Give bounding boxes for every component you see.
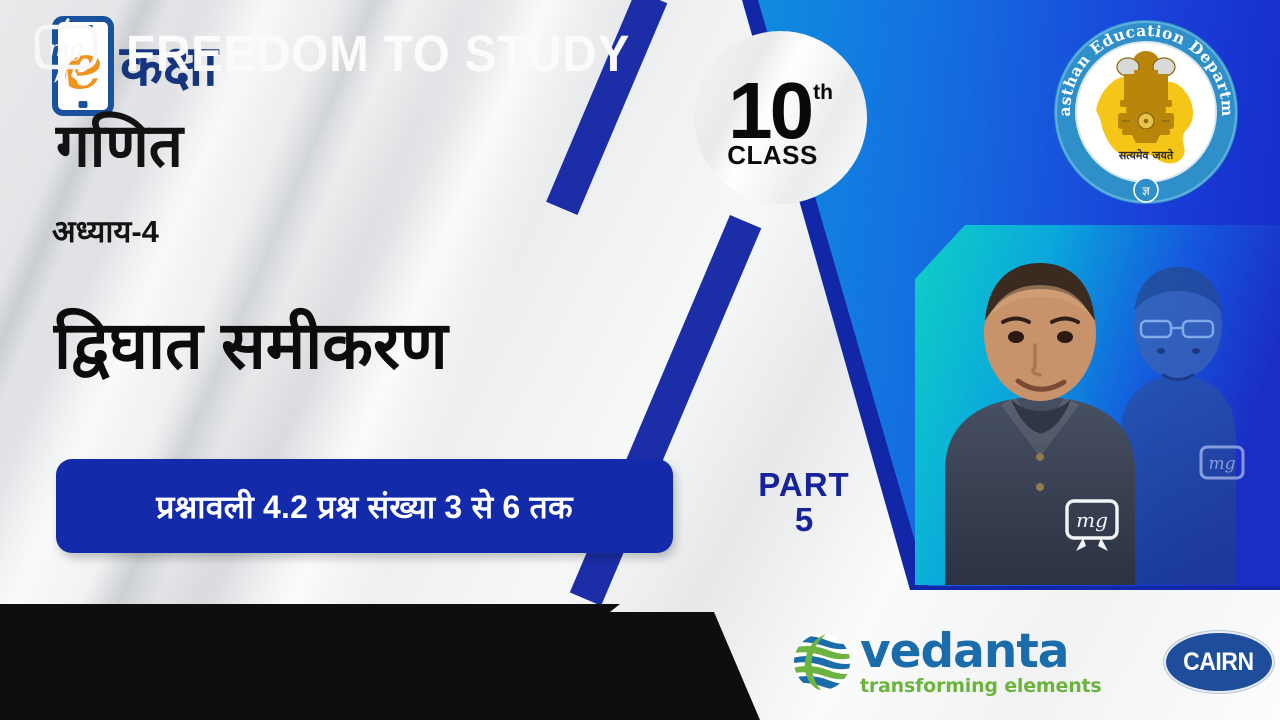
class-word: CLASS bbox=[727, 140, 818, 171]
thumbnail-canvas: mg mg bbox=[0, 0, 1280, 720]
class-badge: 10 th CLASS bbox=[694, 31, 867, 204]
part-indicator: PART 5 bbox=[714, 468, 894, 537]
part-label: PART bbox=[714, 468, 894, 503]
vedanta-wordmark: vedanta transforming elements bbox=[860, 628, 1102, 696]
vedanta-name: vedanta bbox=[860, 628, 1102, 675]
cairn-name: CAIRN bbox=[1183, 648, 1254, 677]
vedanta-globe-icon bbox=[792, 632, 852, 692]
mg-blackboard-icon: mg bbox=[30, 16, 104, 90]
rajasthan-education-department-seal: Rajasthan Education Department सत bbox=[1048, 14, 1244, 210]
question-range-badge: प्रश्नावली 4.2 प्रश्न संख्या 3 से 6 तक bbox=[56, 459, 673, 553]
svg-text:mg: mg bbox=[49, 37, 84, 62]
footer-tagline: FREEDOM TO STUDY bbox=[126, 24, 630, 83]
chapter-label: अध्याय-4 bbox=[52, 216, 159, 247]
question-range-text: प्रश्नावली 4.2 प्रश्न संख्या 3 से 6 तक bbox=[156, 485, 573, 528]
svg-text:सत्यमेव जयते: सत्यमेव जयते bbox=[1118, 148, 1174, 162]
vedanta-tagline: transforming elements bbox=[860, 677, 1102, 696]
subject-title: गणित bbox=[56, 116, 183, 176]
svg-text:mg: mg bbox=[1076, 508, 1108, 532]
svg-text:mg: mg bbox=[1208, 454, 1235, 474]
class-number-row: 10 th bbox=[728, 78, 833, 144]
sponsor-cairn: CAIRN bbox=[1164, 631, 1274, 693]
class-ordinal: th bbox=[813, 84, 833, 101]
svg-text:ज्ञ: ज्ञ bbox=[1142, 184, 1150, 198]
sponsor-vedanta: vedanta transforming elements bbox=[792, 628, 1102, 696]
part-number: 5 bbox=[714, 503, 894, 538]
footer-content: mg FREEDOM TO STUDY bbox=[30, 16, 668, 90]
class-number: 10 bbox=[728, 78, 811, 144]
presenters-photo: mg mg bbox=[915, 225, 1280, 585]
footer-banner bbox=[0, 604, 790, 720]
sponsor-strip: vedanta transforming elements CAIRN bbox=[780, 604, 1280, 720]
topic-title: द्विघात समीकरण bbox=[54, 307, 448, 385]
